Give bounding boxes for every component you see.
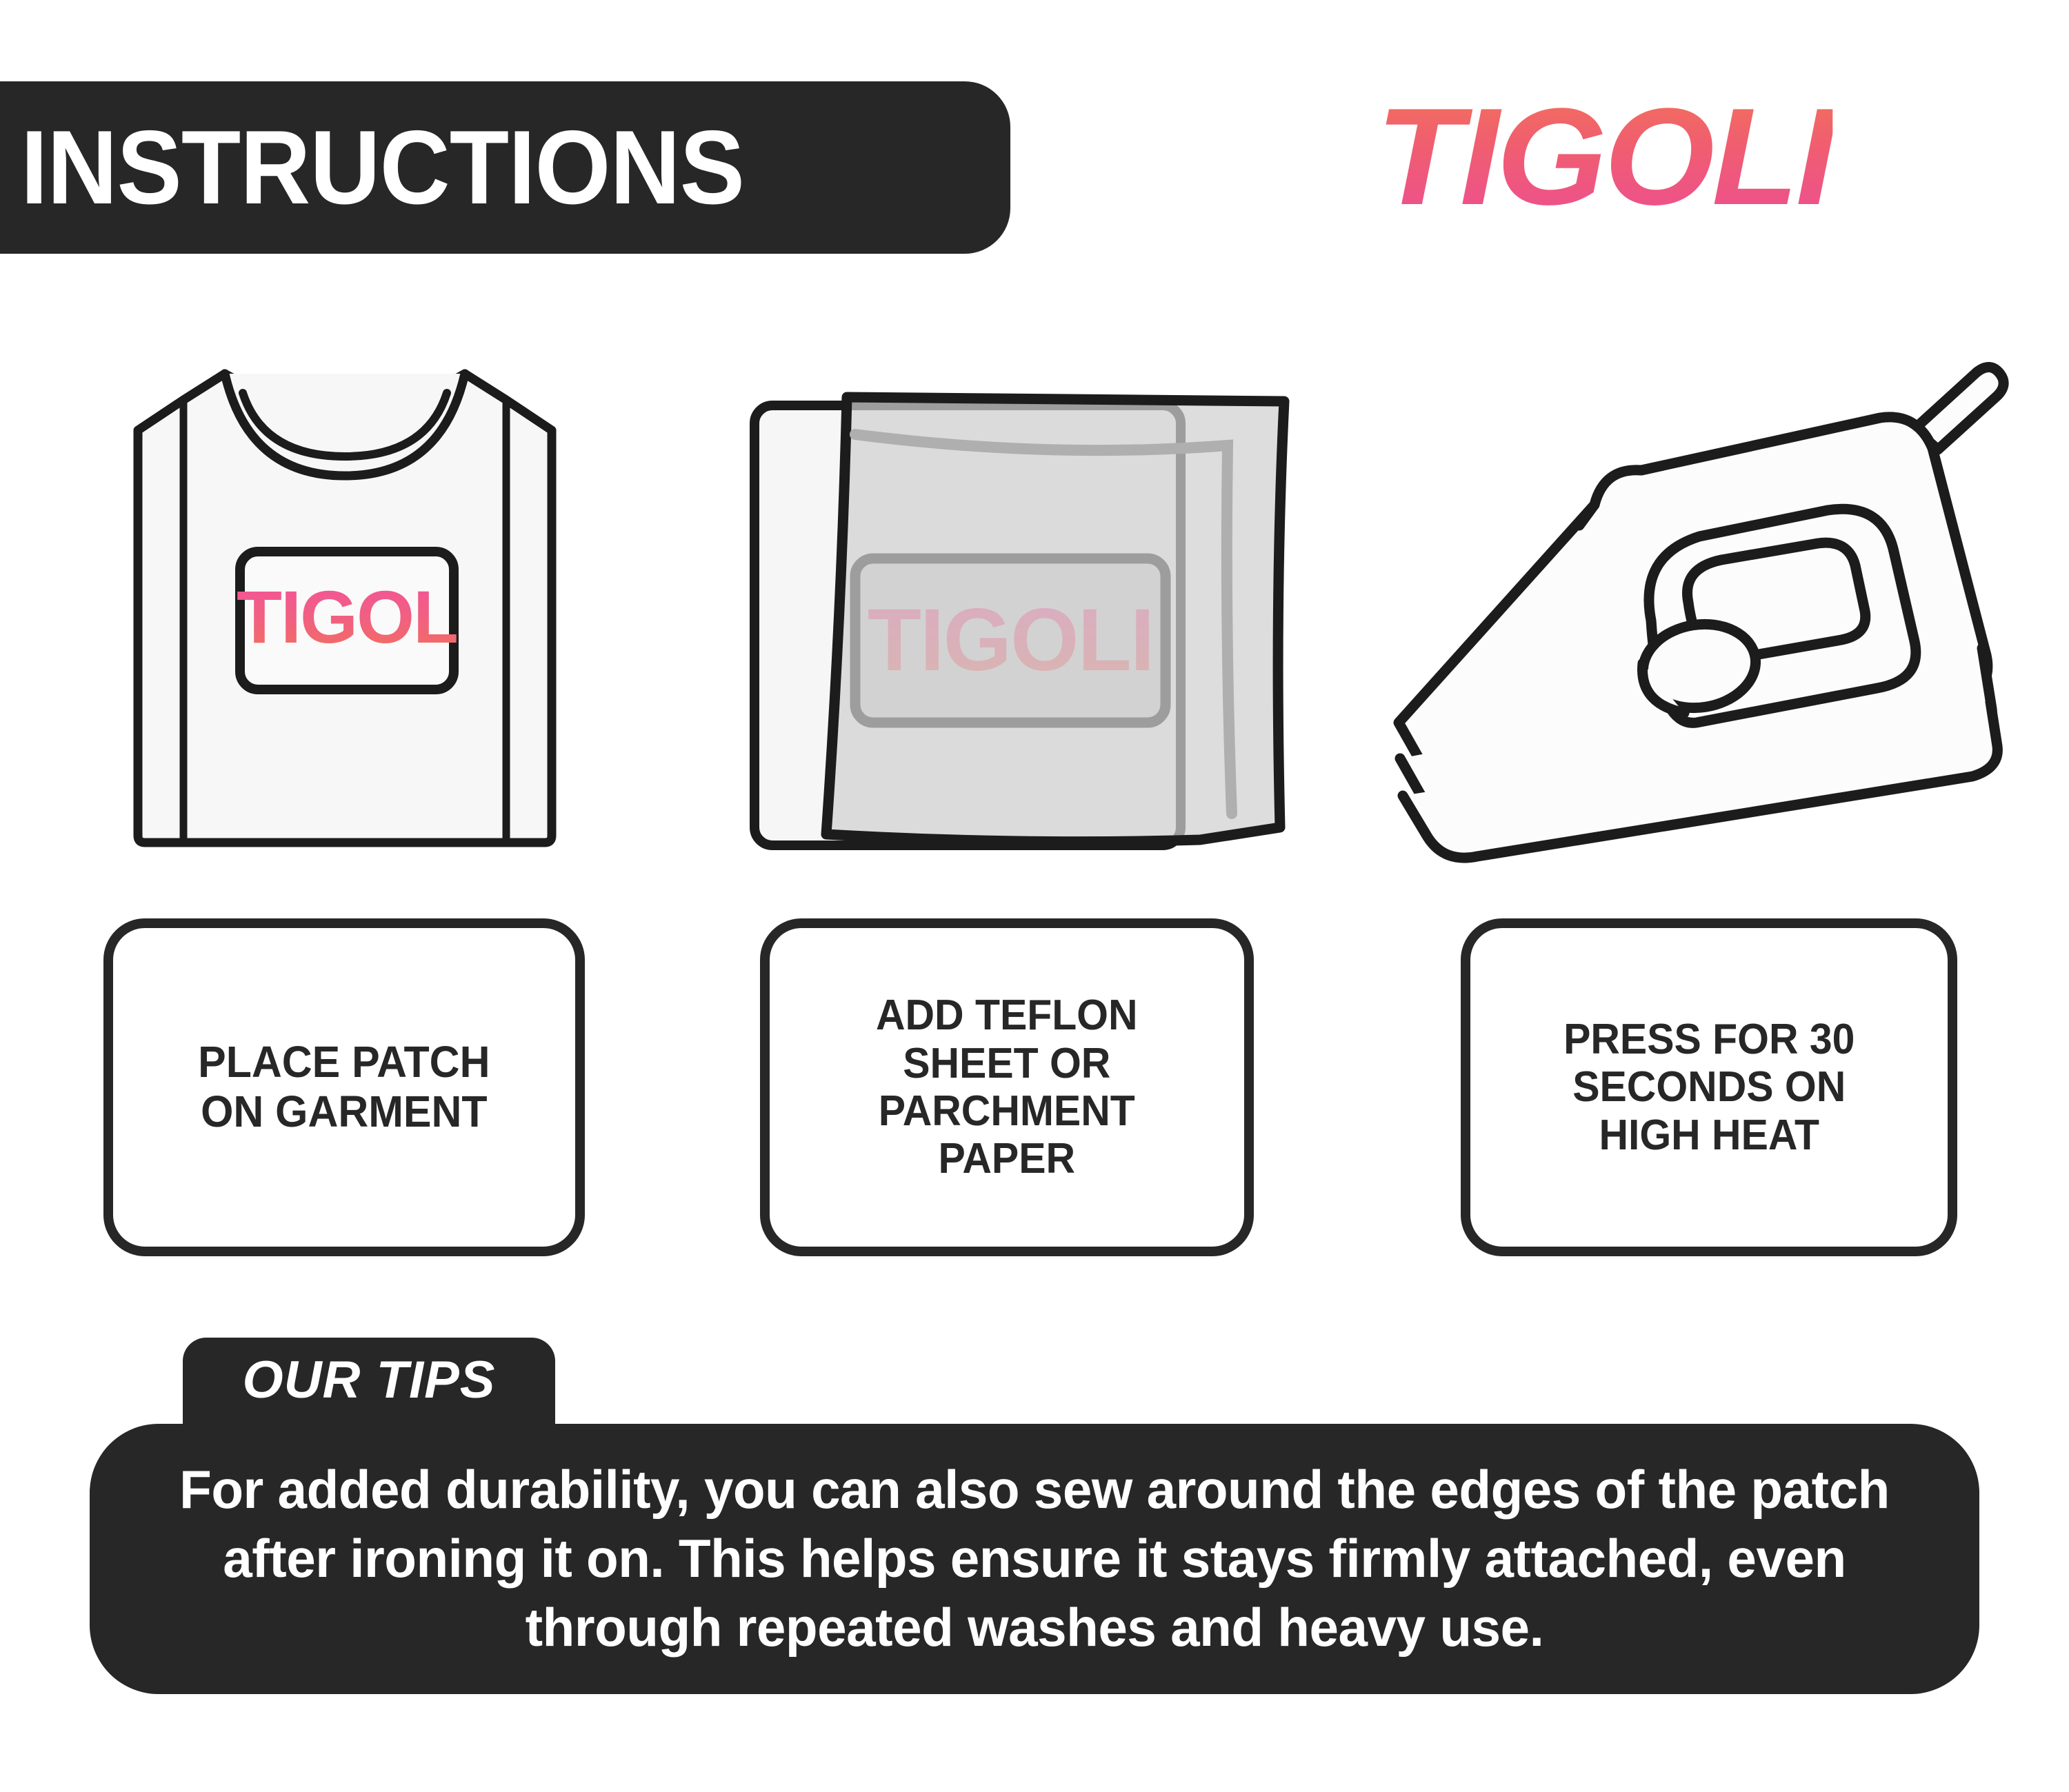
tips-body-text: For added durability, you can also sew a… [148,1456,1921,1662]
caption-line: HIGH HEAT [1563,1111,1855,1159]
caption-line: PAPER [876,1135,1138,1182]
tips-panel: For added durability, you can also sew a… [90,1424,1979,1694]
header-banner: INSTRUCTIONS [0,81,1010,254]
step-caption-2-text: ADD TEFLON SHEET OR PARCHMENT PAPER [876,991,1138,1183]
brand-logo: TIGOLI [1376,88,1832,226]
caption-line: PLACE PATCH [198,1038,490,1087]
step-caption-3: PRESS FOR 30 SECONDS ON HIGH HEAT [1461,918,1957,1256]
teflon-overlay-sheet [826,397,1284,842]
caption-line: SECONDS ON [1563,1063,1855,1111]
caption-line: SHEET OR [876,1040,1138,1087]
step-caption-1: PLACE PATCH ON GARMENT [103,918,585,1256]
teflon-sheet-illustration: TIGOLI [745,359,1310,869]
page-title: INSTRUCTIONS [21,81,744,254]
step-caption-1-text: PLACE PATCH ON GARMENT [198,1038,490,1136]
caption-line: ADD TEFLON [876,991,1138,1039]
caption-line: ON GARMENT [198,1087,490,1137]
caption-line: PARCHMENT [876,1087,1138,1135]
tips-tab: OUR TIPS [183,1338,555,1427]
tshirt-patch-label: TIGOL [237,575,457,658]
tips-tab-label: OUR TIPS [243,1354,496,1407]
caption-line: PRESS FOR 30 [1563,1016,1855,1063]
tshirt-illustration: TIGOL [69,345,621,869]
step-caption-3-text: PRESS FOR 30 SECONDS ON HIGH HEAT [1563,1016,1855,1159]
iron-illustration [1372,345,2062,869]
step-caption-2: ADD TEFLON SHEET OR PARCHMENT PAPER [760,918,1254,1256]
